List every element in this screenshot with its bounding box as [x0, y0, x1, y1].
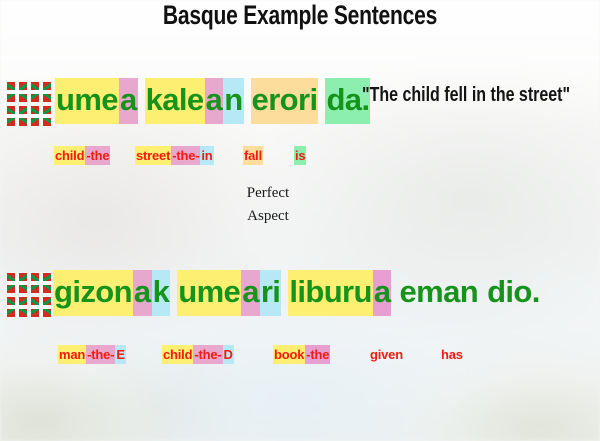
gloss-segment: -the-	[171, 146, 200, 165]
info-circle-icon[interactable]: i	[575, 5, 592, 26]
gloss-segment: child	[54, 146, 85, 165]
page-title: Basque Example Sentences	[66, 0, 534, 31]
morpheme-segment: erori	[251, 78, 319, 124]
flag-tile	[30, 296, 52, 318]
gloss-word: given	[369, 345, 404, 364]
aspect-annotation-line1: Perfect	[228, 182, 308, 205]
basque-word: gizon a k	[53, 270, 170, 316]
basque-ikurrina-flag-icon	[6, 81, 52, 127]
basque-ikurrina-flag-icon	[6, 272, 52, 318]
gloss-segment: man	[58, 345, 86, 364]
morpheme-segment: dio.	[486, 270, 541, 316]
basque-word: kale a n	[145, 78, 244, 124]
gloss-segment: book	[273, 345, 305, 364]
gloss-segment: -the	[85, 146, 110, 165]
gloss-word: man -the- E	[58, 345, 126, 364]
morpheme-segment: a	[133, 270, 152, 316]
translation-line: "The child fell in the street"	[362, 82, 570, 108]
gloss-word: has	[440, 345, 464, 364]
aspect-annotation: Perfect Aspect	[228, 182, 308, 228]
morpheme-segment: liburu	[288, 270, 373, 316]
flag-tile	[6, 81, 28, 103]
flag-tile	[30, 105, 52, 127]
morpheme-segment: a	[373, 270, 392, 316]
gloss-segment: is	[294, 146, 306, 165]
gloss-word: is	[294, 146, 306, 165]
basque-word: dio.	[486, 270, 541, 316]
gloss-segment: -the	[305, 345, 330, 364]
gloss-segment: in	[200, 146, 213, 165]
basque-word: eman	[398, 270, 479, 316]
morpheme-segment: gizon	[53, 270, 133, 316]
basque-word: liburu a	[288, 270, 391, 316]
flag-tile	[30, 81, 52, 103]
flag-tile	[6, 105, 28, 127]
aspect-annotation-line2: Aspect	[228, 205, 308, 228]
gloss-word: book -the	[273, 345, 330, 364]
flag-tile	[30, 272, 52, 294]
basque-word: ume a ri	[177, 270, 281, 316]
morpheme-segment: a	[119, 78, 138, 124]
morpheme-segment: ume	[177, 270, 241, 316]
flag-tile	[6, 296, 28, 318]
basque-word: ume a	[55, 78, 138, 124]
gloss-word: fall	[243, 146, 263, 165]
morpheme-segment: ri	[260, 270, 281, 316]
gloss-segment: has	[440, 345, 464, 364]
gloss-segment: -the-	[86, 345, 115, 364]
basque-sentence-1: ume a kale a n erori da.	[55, 78, 370, 124]
gloss-word: child -the- D	[162, 345, 234, 364]
gloss-segment: street	[135, 146, 171, 165]
morpheme-segment: ume	[55, 78, 119, 124]
gloss-word: child -the	[54, 146, 110, 165]
morpheme-segment: a	[241, 270, 260, 316]
morpheme-segment: n	[223, 78, 243, 124]
morpheme-segment: a	[205, 78, 224, 124]
gloss-word: street -the- in	[135, 146, 214, 165]
gloss-segment: child	[162, 345, 193, 364]
basque-word: erori	[251, 78, 319, 124]
gloss-segment: fall	[243, 146, 263, 165]
gloss-segment: E	[115, 345, 125, 364]
morpheme-segment: kale	[145, 78, 205, 124]
translation-sentence-1: "The child fell in the street"	[362, 82, 570, 108]
gloss-segment: given	[369, 345, 404, 364]
morpheme-segment: eman	[398, 270, 479, 316]
flag-tile	[6, 272, 28, 294]
morpheme-segment: k	[152, 270, 171, 316]
gloss-segment: -the-	[193, 345, 222, 364]
gloss-segment: D	[223, 345, 234, 364]
basque-sentence-2: gizon a k ume a ri liburu a eman dio.	[53, 270, 541, 316]
